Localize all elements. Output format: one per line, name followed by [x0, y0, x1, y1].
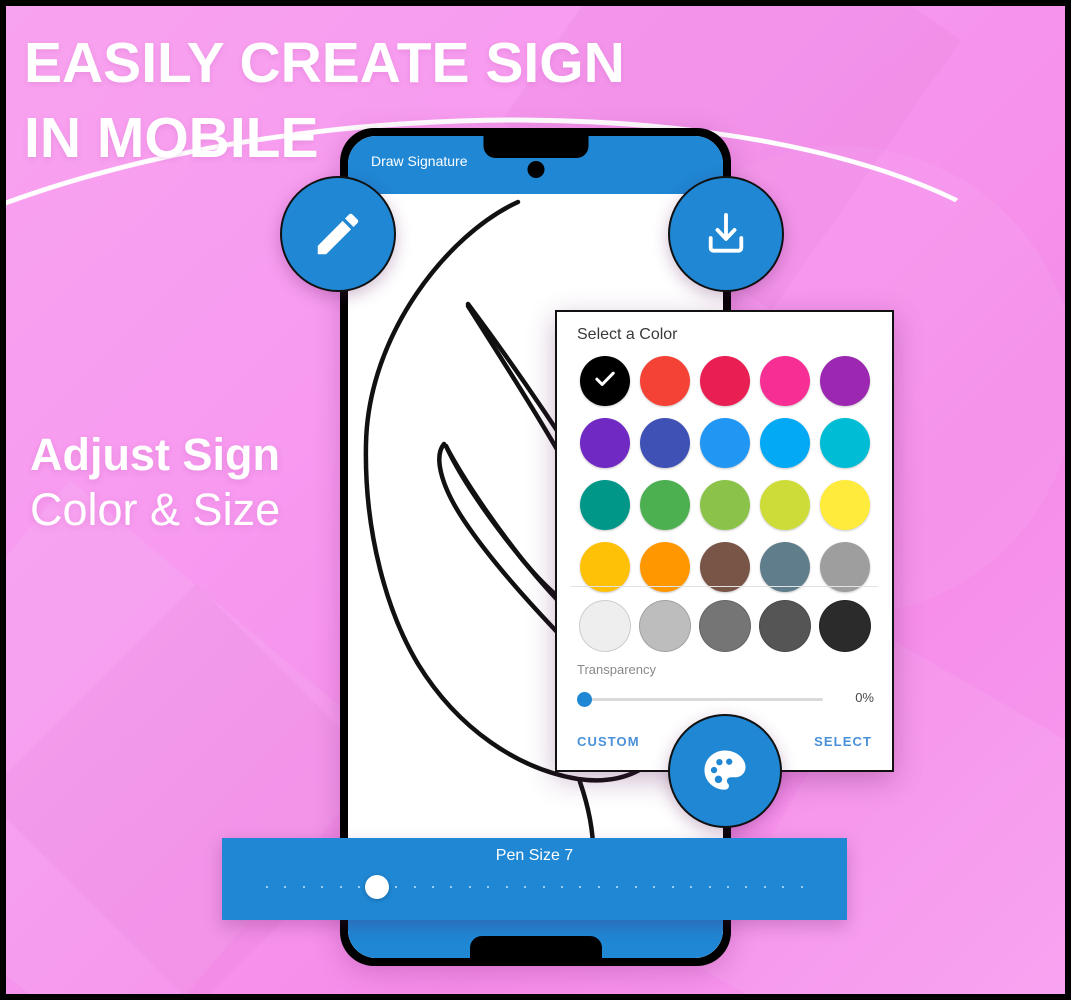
color-swatch-grey-900[interactable] [819, 600, 871, 652]
color-swatch-cyan[interactable] [820, 418, 870, 468]
transparency-value: 0% [855, 690, 874, 705]
color-swatch-grey-100[interactable] [579, 600, 631, 652]
pen-size-tick [395, 886, 397, 888]
pen-size-slider[interactable] [266, 886, 803, 888]
color-swatch-amber[interactable] [580, 542, 630, 592]
phone-notch [483, 136, 588, 158]
color-swatch-crimson[interactable] [700, 356, 750, 406]
app-bar-title: Draw Signature [371, 153, 468, 169]
color-swatch-blue[interactable] [700, 418, 750, 468]
phone-home-indicator [470, 936, 602, 958]
pen-size-tick [579, 886, 581, 888]
pen-size-tick [284, 886, 286, 888]
pen-size-tick [303, 886, 305, 888]
color-swatch-indigo[interactable] [640, 418, 690, 468]
color-swatch-deep-purple[interactable] [580, 418, 630, 468]
pen-size-tick [801, 886, 803, 888]
pen-size-tick [745, 886, 747, 888]
transparency-slider-thumb[interactable] [577, 692, 592, 707]
pen-size-tick [727, 886, 729, 888]
transparency-slider-track[interactable] [583, 698, 823, 701]
open-color-picker-button[interactable] [668, 714, 782, 828]
color-swatch-grey[interactable] [820, 542, 870, 592]
pen-size-tick [709, 886, 711, 888]
pen-size-tick [487, 886, 489, 888]
color-swatch-blue-grey[interactable] [760, 542, 810, 592]
pen-size-slider-ticks [266, 886, 803, 888]
pen-size-tick [690, 886, 692, 888]
pen-size-tick [469, 886, 471, 888]
color-swatch-black[interactable] [580, 356, 630, 406]
color-swatch-pink[interactable] [760, 356, 810, 406]
dialog-title: Select a Color [577, 326, 678, 344]
color-swatch-lime[interactable] [760, 480, 810, 530]
color-swatch-light-blue[interactable] [760, 418, 810, 468]
color-swatch-orange[interactable] [640, 542, 690, 592]
check-icon [592, 366, 618, 397]
pen-size-tick [598, 886, 600, 888]
color-swatch-grey-600[interactable] [699, 600, 751, 652]
color-swatch-light-green[interactable] [700, 480, 750, 530]
greyscale-swatch-row [575, 600, 875, 652]
dialog-divider [571, 586, 878, 587]
pen-size-tick [561, 886, 563, 888]
download-icon [699, 207, 753, 261]
color-swatch-grey-800[interactable] [759, 600, 811, 652]
pen-size-tick [616, 886, 618, 888]
pen-size-tick [653, 886, 655, 888]
save-signature-button[interactable] [668, 176, 784, 292]
pen-size-tick [506, 886, 508, 888]
pen-size-tick [543, 886, 545, 888]
edit-signature-button[interactable] [280, 176, 396, 292]
transparency-label: Transparency [577, 662, 656, 677]
color-picker-dialog: Select a Color Transparency 0% CUSTOM SE… [555, 310, 894, 772]
pen-size-tick [414, 886, 416, 888]
pen-size-tick [358, 886, 360, 888]
color-swatch-grey-400[interactable] [639, 600, 691, 652]
color-swatch-teal[interactable] [580, 480, 630, 530]
color-swatch-grid [575, 356, 875, 592]
pencil-icon [311, 207, 365, 261]
palette-icon [697, 743, 753, 799]
custom-color-button[interactable]: CUSTOM [577, 734, 640, 749]
color-swatch-yellow[interactable] [820, 480, 870, 530]
color-swatch-red[interactable] [640, 356, 690, 406]
pen-size-tick [321, 886, 323, 888]
pen-size-tick [450, 886, 452, 888]
pen-size-tick [524, 886, 526, 888]
pen-size-slider-thumb[interactable] [365, 875, 389, 899]
pen-size-tick [782, 886, 784, 888]
subheading-line-1: Adjust Sign [30, 428, 280, 483]
pen-size-tick [340, 886, 342, 888]
pen-size-tick [672, 886, 674, 888]
pen-size-panel: Pen Size 7 [222, 838, 847, 920]
select-color-button[interactable]: SELECT [814, 734, 872, 749]
color-swatch-brown[interactable] [700, 542, 750, 592]
subheading-line-2: Color & Size [30, 483, 280, 538]
pen-size-tick [266, 886, 268, 888]
color-swatch-purple[interactable] [820, 356, 870, 406]
transparency-slider[interactable]: 0% [577, 688, 874, 710]
color-swatch-green[interactable] [640, 480, 690, 530]
pen-size-tick [635, 886, 637, 888]
pen-size-tick [764, 886, 766, 888]
pen-size-label: Pen Size 7 [222, 847, 847, 865]
pen-size-tick [432, 886, 434, 888]
subheading: Adjust Sign Color & Size [30, 428, 280, 538]
front-camera-icon [527, 161, 544, 178]
promo-graphic: EASILY CREATE SIGN IN MOBILE Adjust Sign… [0, 0, 1071, 1000]
